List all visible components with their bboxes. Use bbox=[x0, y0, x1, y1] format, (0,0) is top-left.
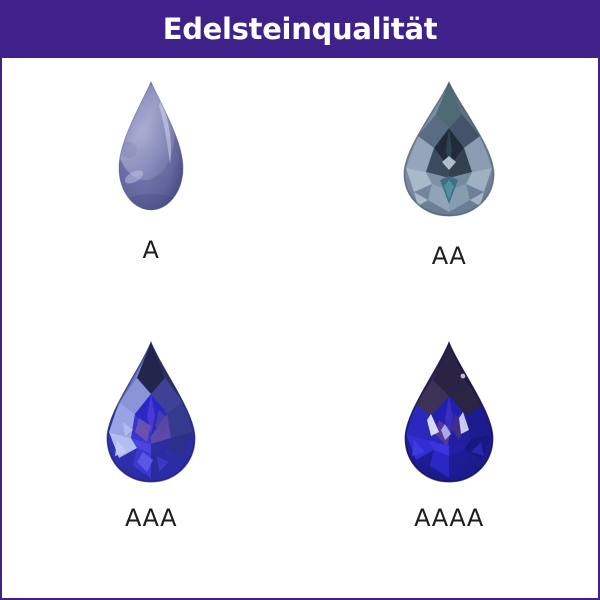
grade-cell-aa: AA bbox=[300, 58, 598, 328]
gem-image-aaa bbox=[103, 340, 199, 484]
gem-image-aa bbox=[400, 80, 498, 218]
gem-image-a bbox=[115, 80, 187, 212]
gemstone-grade-grid: A bbox=[2, 58, 598, 598]
gem-image-aaaa bbox=[401, 340, 497, 484]
grade-cell-aaaa: AAAA bbox=[300, 328, 598, 598]
grade-cell-aaa: AAA bbox=[2, 328, 300, 598]
grade-label-aaaa: AAAA bbox=[414, 506, 484, 530]
gemstone-quality-card: Edelsteinqualität bbox=[0, 0, 600, 600]
card-header: Edelsteinqualität bbox=[0, 0, 600, 58]
grade-label-aa: AA bbox=[432, 244, 467, 268]
page-title: Edelsteinqualität bbox=[163, 15, 438, 44]
gem-svg-pear-aaa bbox=[103, 340, 199, 484]
gem-svg-pear-aa bbox=[400, 80, 498, 218]
gem-svg-pear-aaaa bbox=[401, 340, 497, 484]
gem-svg-cabochon-a bbox=[115, 80, 187, 212]
card-body: A bbox=[0, 58, 600, 600]
grade-label-a: A bbox=[143, 238, 160, 262]
grade-cell-a: A bbox=[2, 58, 300, 328]
grade-label-aaa: AAA bbox=[125, 506, 177, 530]
